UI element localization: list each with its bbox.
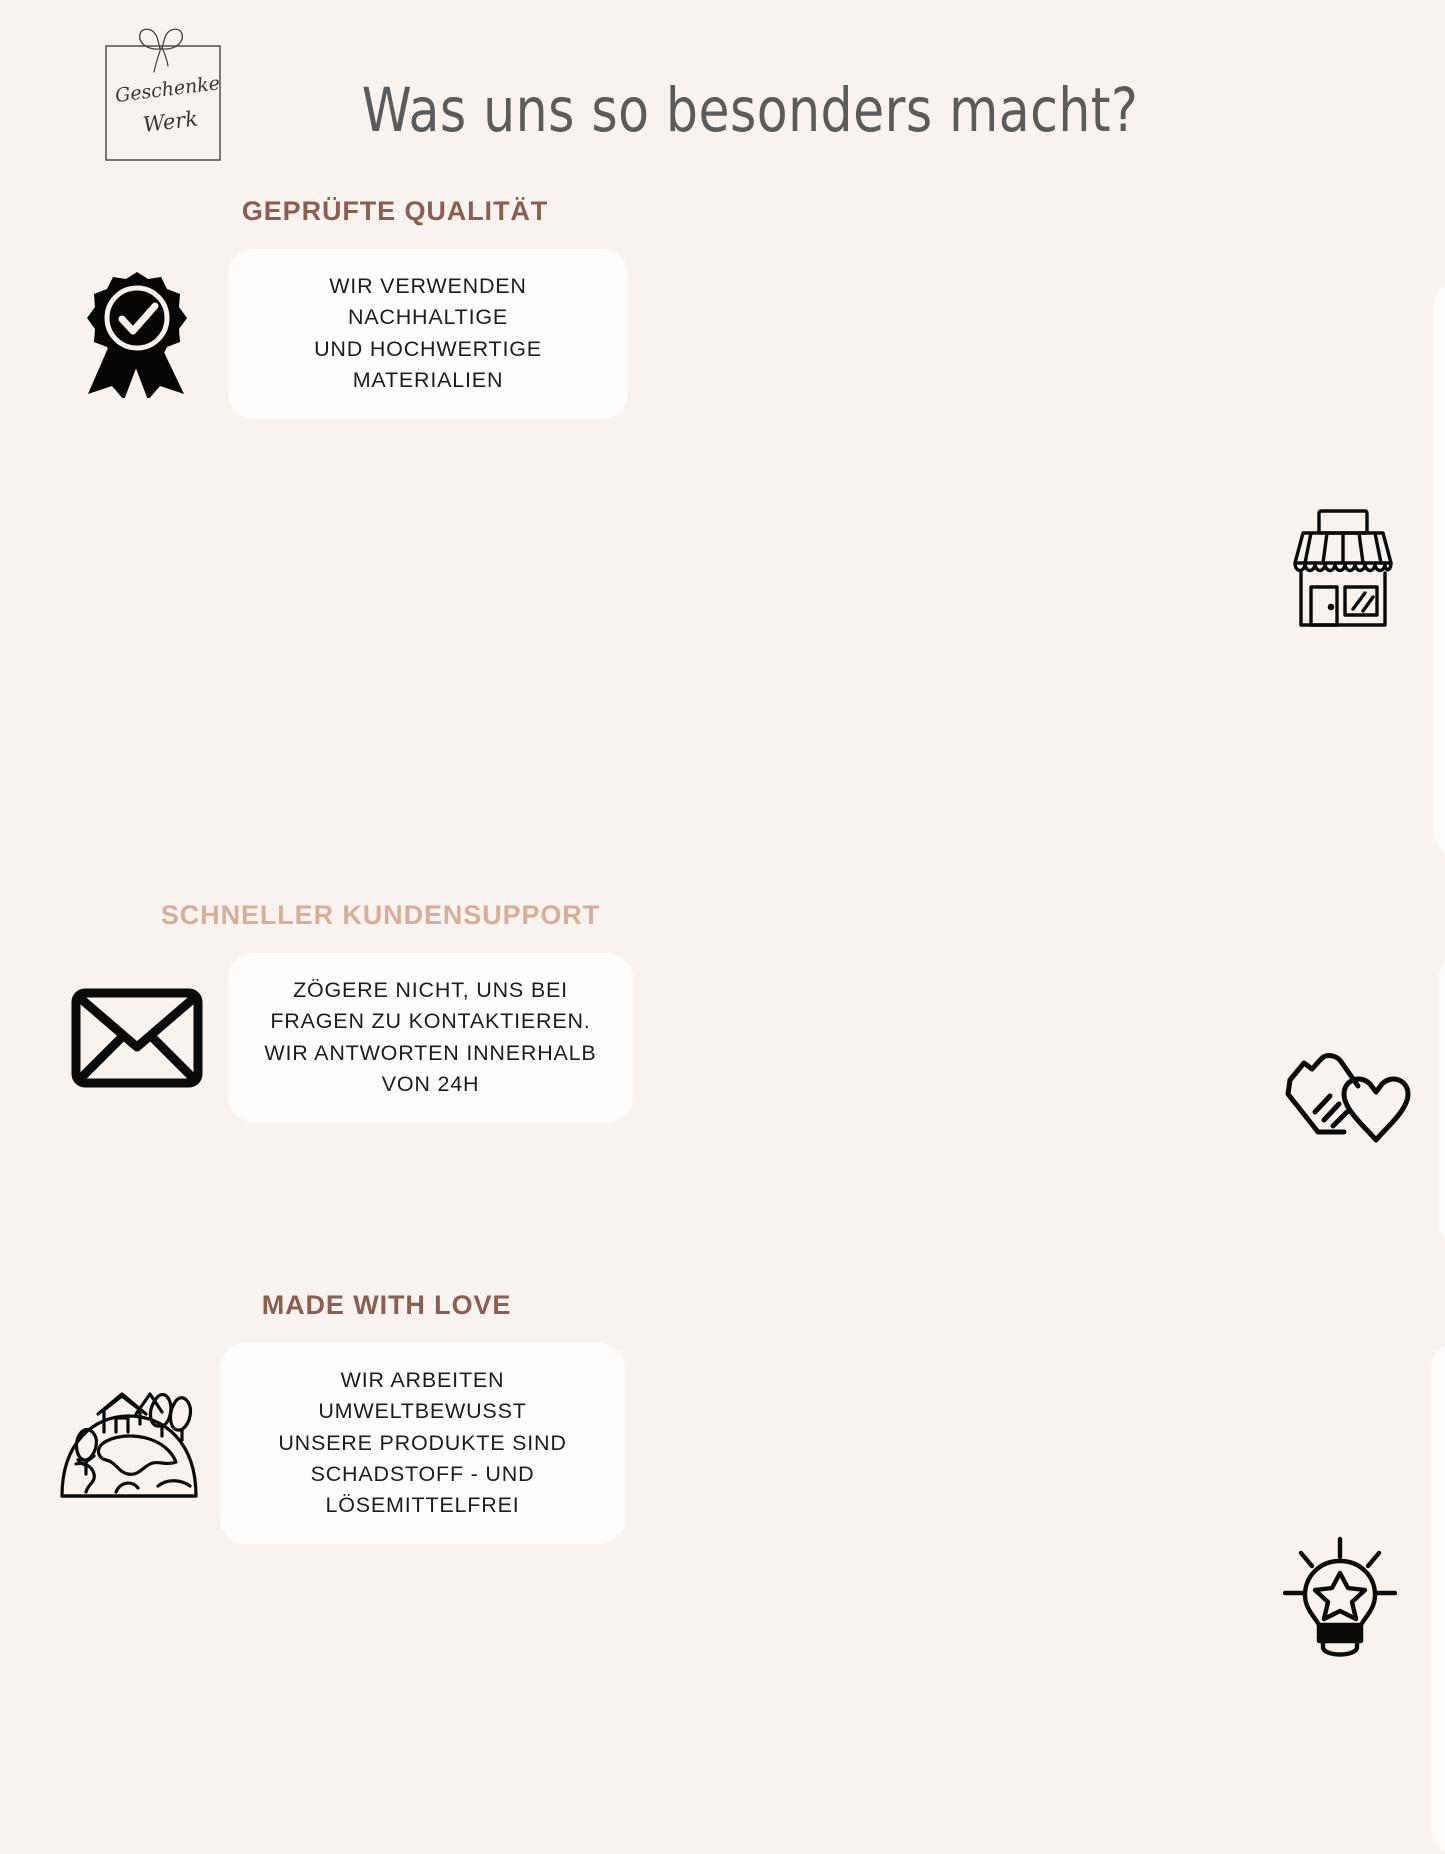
feature-sonderanfertigungen: SONDERANFERTIGUNGEN <box>665 1290 1445 1854</box>
features-grid: GEPRÜFTE QUALITÄT WIR VERWENDEN NACHHALT… <box>0 196 1445 1854</box>
page-title: Was uns so besonders macht? <box>336 75 1164 146</box>
storefront-icon <box>1268 494 1418 644</box>
feature-card: HANDGEFERTIGTE PRODUKTE GANZ NACH DEINEN… <box>1439 953 1445 1248</box>
feature-text: WIR VERWENDEN NACHHALTIGE UND HOCHWERTIG… <box>254 271 602 397</box>
feature-card: Wir sind eine kleine Manufaktur aus dem … <box>1434 280 1445 858</box>
infographic-page: Geschenke Werk Was uns so besonders mach… <box>0 0 1445 1084</box>
feature-text: WIR ARBEITEN UMWELTBEWUSST UNSERE PRODUK… <box>246 1365 599 1522</box>
features-row-1: GEPRÜFTE QUALITÄT WIR VERWENDEN NACHHALT… <box>0 196 1445 858</box>
logo-word-geschenke: Geschenke <box>114 72 221 107</box>
features-row-3: MADE WITH LOVE <box>0 1290 1445 1854</box>
feature-made-with-love: MADE WITH LOVE <box>0 1290 665 1854</box>
feature-heading: GEPRÜFTE QUALITÄT <box>162 196 628 227</box>
feature-heading: MADE WITH LOVE <box>148 1290 625 1321</box>
feature-schneller-kundensupport: SCHNELLER KUNDENSUPPORT ZÖGERE NICHT, UN… <box>0 900 673 1248</box>
gift-box-with-bow-logo: Geschenke Werk <box>98 24 228 164</box>
feature-card: Du willst dein eigenes Design auf unsere… <box>1431 1343 1445 1854</box>
feature-card: ZÖGERE NICHT, UNS BEI FRAGEN ZU KONTAKTI… <box>228 953 633 1123</box>
brand-logo: Geschenke Werk <box>98 24 228 164</box>
feature-gepruefte-qualitaet: GEPRÜFTE QUALITÄT WIR VERWENDEN NACHHALT… <box>0 196 668 858</box>
lightbulb-star-icon <box>1265 1523 1415 1673</box>
quality-badge-icon <box>62 259 212 409</box>
feature-text: ZÖGERE NICHT, UNS BEI FRAGEN ZU KONTAKTI… <box>264 975 596 1101</box>
hand-heart-icon <box>1273 1025 1423 1175</box>
features-row-2: SCHNELLER KUNDENSUPPORT ZÖGERE NICHT, UN… <box>0 900 1445 1248</box>
feature-handmade: HANDMADE HANDGEFERTIGTE PRODUKTE GANZ NA… <box>673 900 1445 1248</box>
feature-card: WIR ARBEITEN UMWELTBEWUSST UNSERE PRODUK… <box>220 1343 625 1544</box>
feature-card: WIR VERWENDEN NACHHALTIGE UND HOCHWERTIG… <box>228 249 628 419</box>
envelope-icon <box>62 963 212 1113</box>
feature-kleine-manufaktur: KLEINE MANUFAKTUR <box>668 196 1445 858</box>
earth-nature-icon <box>54 1368 204 1518</box>
logo-word-werk: Werk <box>142 106 200 137</box>
feature-heading: SCHNELLER KUNDENSUPPORT <box>128 900 633 931</box>
